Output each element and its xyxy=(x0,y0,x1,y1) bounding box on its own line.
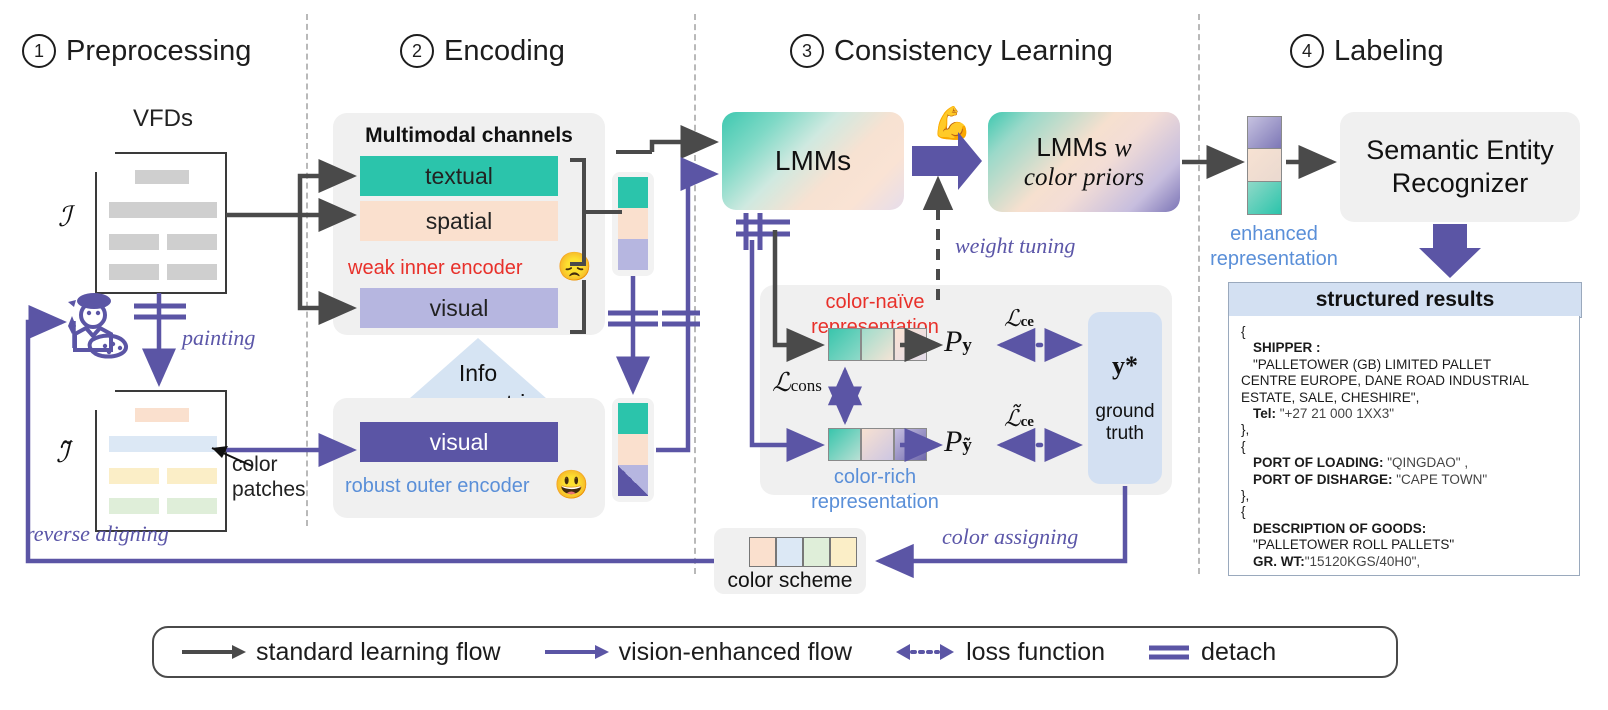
doc-line-colored xyxy=(109,468,159,484)
multimodal-channels-title: Multimodal channels xyxy=(333,124,605,148)
color-rich-line2: representation xyxy=(790,490,960,515)
results-line: { xyxy=(1241,504,1567,520)
recognizer-line1: Semantic Entity xyxy=(1366,134,1554,167)
detach-bars-icon xyxy=(1147,642,1191,662)
solid-arrow-icon xyxy=(180,643,246,661)
info-asymmetric-line1: Info xyxy=(459,358,497,388)
loss-ce-top-label: ℒce xyxy=(1004,306,1034,332)
feature-stack-naive-cell-textual xyxy=(618,177,648,208)
stage-label: Labeling xyxy=(1334,35,1444,68)
results-line: "PALLETOWER (GB) LIMITED PALLET xyxy=(1241,357,1567,373)
results-line: { xyxy=(1241,324,1567,340)
legend-item-standard-flow: standard learning flow xyxy=(180,638,501,667)
results-line: ESTATE, SALE, CHESHIRE", xyxy=(1241,390,1567,406)
solid-arrow-icon xyxy=(543,643,609,661)
rep-cell xyxy=(861,428,894,461)
enh-cell xyxy=(1247,116,1282,149)
enhanced-representation-label: enhanced representation xyxy=(1200,222,1348,272)
lmms-box: LMMs xyxy=(722,112,904,210)
lmms-color-priors-priors: color priors xyxy=(1024,163,1144,193)
results-line: }, xyxy=(1241,422,1567,438)
results-line: CENTRE EUROPE, DANE ROAD INDUSTRIAL xyxy=(1241,373,1567,389)
vfd-document-painted xyxy=(95,390,227,532)
stage-label: Encoding xyxy=(444,35,565,68)
results-line: { xyxy=(1241,439,1567,455)
loss-cons-label: ℒcons xyxy=(772,368,822,398)
stage-label: Consistency Learning xyxy=(834,35,1113,68)
color-rich-label: color-rich representation xyxy=(790,465,960,515)
loss-cons-sub: cons xyxy=(791,376,822,395)
loss-ce-sub: ce xyxy=(1021,314,1034,330)
p-naive-label: Py xyxy=(944,325,972,359)
channel-label: textual xyxy=(425,163,493,190)
loss-ce-bottom-label: ℒ̃ce xyxy=(1004,406,1034,432)
feature-stack-rich-cell-visual xyxy=(618,465,648,496)
lmms-color-priors-label: LMMs xyxy=(1036,132,1107,162)
loss-cons-symbol: ℒ xyxy=(772,368,791,397)
doc-fold-corner xyxy=(95,390,115,410)
feature-stack-naive-cell-visual xyxy=(618,239,648,270)
divider-2 xyxy=(694,14,696,574)
legend-label: loss function xyxy=(966,638,1105,667)
legend-item-detach: detach xyxy=(1147,638,1276,667)
ground-truth-line2: truth xyxy=(1095,423,1154,445)
painting-label: painting xyxy=(182,325,255,351)
weak-inner-encoder-note: weak inner encoder xyxy=(348,257,523,280)
color-scheme-label: color scheme xyxy=(714,569,866,593)
divider-3 xyxy=(1198,14,1200,574)
stage-number: 4 xyxy=(1290,34,1324,68)
painter-icon xyxy=(62,288,132,360)
enh-cell xyxy=(1247,149,1282,182)
enh-cell xyxy=(1247,182,1282,215)
lmms-color-priors-box: LMMs w color priors xyxy=(988,112,1180,212)
vfd-document-original xyxy=(95,152,227,294)
legend-label: vision-enhanced flow xyxy=(619,638,852,667)
results-line: }, xyxy=(1241,488,1567,504)
p-rich-label: Pỹ xyxy=(944,425,972,459)
results-line: DESCRIPTION OF GOODS: xyxy=(1241,521,1567,537)
sad-face-icon: 😞 xyxy=(557,250,592,283)
results-line: PORT OF DISHARGE: "CAPE TOWN" xyxy=(1241,472,1567,488)
color-swatch xyxy=(830,537,857,567)
enhanced-representation-stack xyxy=(1247,116,1282,215)
rep-cell xyxy=(861,328,894,361)
painted-symbol: ℐ̃ xyxy=(56,436,69,470)
input-symbol: ℐ xyxy=(58,200,71,234)
p-rich-symbol: P xyxy=(944,425,962,458)
color-swatch xyxy=(749,537,776,567)
rep-cell xyxy=(828,328,861,361)
weight-tuning-label: weight tuning xyxy=(955,233,1075,259)
lmms-color-priors-w: w xyxy=(1114,133,1131,162)
enhanced-line2: representation xyxy=(1200,247,1348,272)
channel-visual-inner: visual xyxy=(360,288,558,328)
doc-fold-corner xyxy=(95,152,115,172)
stage-number: 1 xyxy=(22,34,56,68)
stage-number: 3 xyxy=(790,34,824,68)
doc-line-colored xyxy=(109,498,159,514)
figure-canvas: 1 Preprocessing 2 Encoding 3 Consistency… xyxy=(0,0,1608,710)
color-assigning-label: color assigning xyxy=(942,524,1078,550)
stage-title-consistency: 3 Consistency Learning xyxy=(790,34,1113,68)
divider-1 xyxy=(306,14,308,526)
color-scheme-swatches xyxy=(749,537,857,567)
stage-number: 2 xyxy=(400,34,434,68)
loss-ce-tilde-symbol: ℒ̃ xyxy=(1004,406,1021,431)
legend-item-loss-function: loss function xyxy=(894,638,1105,667)
double-dotted-arrow-icon xyxy=(894,642,956,662)
channel-label: visual xyxy=(430,429,489,456)
stage-title-encoding: 2 Encoding xyxy=(400,34,565,68)
channel-textual: textual xyxy=(360,156,558,196)
stage-label: Preprocessing xyxy=(66,35,251,68)
feature-stack-naive-cell-spatial xyxy=(618,208,648,239)
doc-line xyxy=(135,170,189,184)
rep-cell xyxy=(894,328,927,361)
results-line: ... xyxy=(1241,570,1567,576)
channel-spatial: spatial xyxy=(360,201,558,241)
channel-visual-outer: visual xyxy=(360,422,558,462)
structured-results-body: {SHIPPER :"PALLETOWER (GB) LIMITED PALLE… xyxy=(1228,316,1580,576)
color-rich-representation xyxy=(828,428,927,461)
results-line: "PALLETOWER ROLL PALLETS" xyxy=(1241,537,1567,553)
doc-line-colored xyxy=(167,468,217,484)
stage-title-labeling: 4 Labeling xyxy=(1290,34,1444,68)
color-patches-label: colorpatches xyxy=(232,452,306,502)
structured-results-text: {SHIPPER :"PALLETOWER (GB) LIMITED PALLE… xyxy=(1241,324,1567,576)
results-line: PORT OF LOADING: "QINGDAO" , xyxy=(1241,455,1567,471)
lmms-label: LMMs xyxy=(775,145,851,177)
feature-stack-rich-cell-textual xyxy=(618,403,648,434)
color-naive-representation xyxy=(828,328,927,361)
channel-label: visual xyxy=(430,295,489,322)
doc-line xyxy=(109,202,217,218)
results-line: GR. WT:"15120KGS/40H0", xyxy=(1241,554,1567,570)
rep-cell xyxy=(828,428,861,461)
results-line: SHIPPER : xyxy=(1241,340,1567,356)
color-swatch xyxy=(803,537,830,567)
doc-line-colored xyxy=(167,498,217,514)
color-rich-line1: color-rich xyxy=(790,465,960,490)
ground-truth-symbol: y* xyxy=(1112,351,1138,381)
legend-label: detach xyxy=(1201,638,1276,667)
muscle-icon: 💪 xyxy=(932,104,972,142)
ground-truth-line1: ground xyxy=(1095,401,1154,423)
smile-face-icon: 😃 xyxy=(554,468,589,501)
doc-line xyxy=(167,264,217,280)
p-naive-sub: y xyxy=(962,335,972,356)
stage-title-preprocessing: 1 Preprocessing xyxy=(22,34,251,68)
legend: standard learning flow vision-enhanced f… xyxy=(152,626,1398,678)
doc-line xyxy=(109,234,159,250)
enhanced-line1: enhanced xyxy=(1200,222,1348,247)
loss-ce-symbol: ℒ xyxy=(1004,306,1021,331)
legend-item-vision-flow: vision-enhanced flow xyxy=(543,638,852,667)
doc-line xyxy=(109,264,159,280)
color-swatch xyxy=(776,537,803,567)
doc-line-colored xyxy=(109,436,217,452)
robust-outer-encoder-note: robust outer encoder xyxy=(345,475,530,498)
legend-label: standard learning flow xyxy=(256,638,501,667)
recognizer-line2: Recognizer xyxy=(1366,167,1554,200)
doc-line-colored xyxy=(135,408,189,422)
ground-truth-box: y* ground truth xyxy=(1088,312,1162,484)
results-line: Tel: "+27 21 000 1XX3" xyxy=(1241,406,1567,422)
reverse-aligning-label: reverse aligning xyxy=(26,521,169,547)
rep-cell xyxy=(894,428,927,461)
channel-label: spatial xyxy=(426,208,492,235)
structured-results-header: structured results xyxy=(1228,282,1582,318)
color-naive-line1: color-naïve xyxy=(790,290,960,315)
loss-ce-tilde-sub: ce xyxy=(1021,414,1034,430)
vfds-title: VFDs xyxy=(133,105,193,133)
p-naive-symbol: P xyxy=(944,325,962,358)
p-rich-sub: ỹ xyxy=(962,435,972,456)
feature-stack-rich-cell-spatial xyxy=(618,434,648,465)
doc-line xyxy=(167,234,217,250)
semantic-entity-recognizer-box: Semantic Entity Recognizer xyxy=(1340,112,1580,222)
